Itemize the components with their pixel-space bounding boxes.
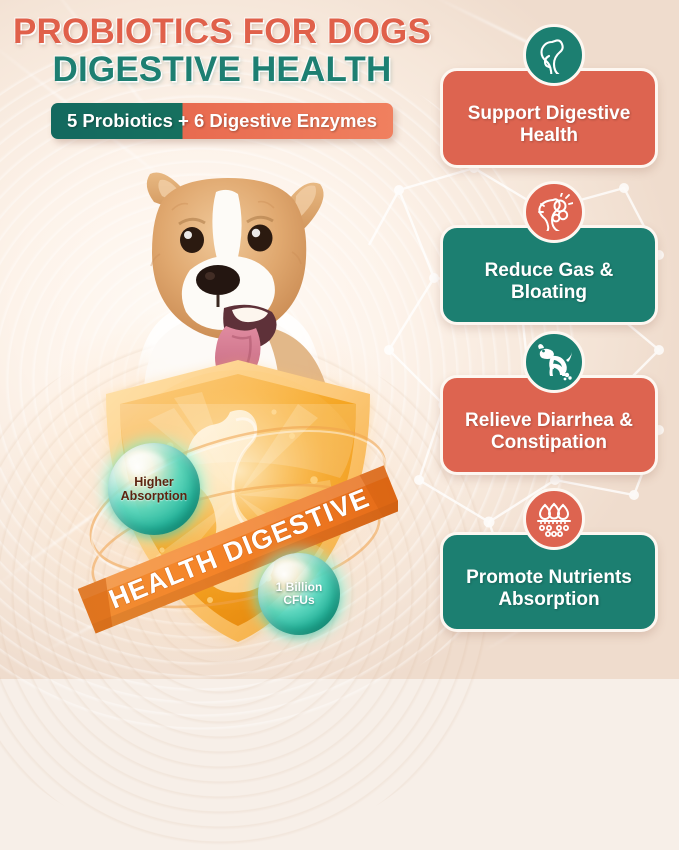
bloated-stomach-icon bbox=[523, 181, 585, 243]
dog-pooping-icon bbox=[523, 331, 585, 393]
benefit-card-label: Support Digestive Health bbox=[455, 103, 643, 147]
badge-line2: Absorption bbox=[117, 489, 192, 503]
page-title-line2: DIGESTIVE HEALTH bbox=[0, 52, 444, 89]
benefit-card-label: Reduce Gas & Bloating bbox=[455, 260, 643, 304]
benefits-list: Support Digestive Health Reduce Gas & Bl… bbox=[440, 0, 668, 679]
badge-line1: Higher bbox=[130, 475, 178, 489]
stomach-icon bbox=[523, 24, 585, 86]
subtitle-pill: 5 Probiotics + 6 Digestive Enzymes bbox=[51, 103, 393, 139]
badge-higher-absorption: Higher Absorption bbox=[108, 443, 200, 535]
benefit-card-label: Relieve Diarrhea & Constipation bbox=[455, 410, 643, 454]
header: PROBIOTICS FOR DOGS DIGESTIVE HEALTH 5 P… bbox=[0, 14, 444, 139]
page-title-line1: PROBIOTICS FOR DOGS bbox=[0, 14, 444, 50]
nutrient-droplets-icon bbox=[523, 488, 585, 550]
badge-line2: CFUs bbox=[279, 593, 318, 607]
badge-one-billion-cfus: 1 Billion CFUs bbox=[258, 553, 340, 635]
benefit-card-label: Promote Nutrients Absorption bbox=[455, 567, 643, 611]
subtitle-pill-wrapper: 5 Probiotics + 6 Digestive Enzymes bbox=[0, 103, 444, 139]
badge-line1: 1 Billion bbox=[272, 580, 327, 594]
